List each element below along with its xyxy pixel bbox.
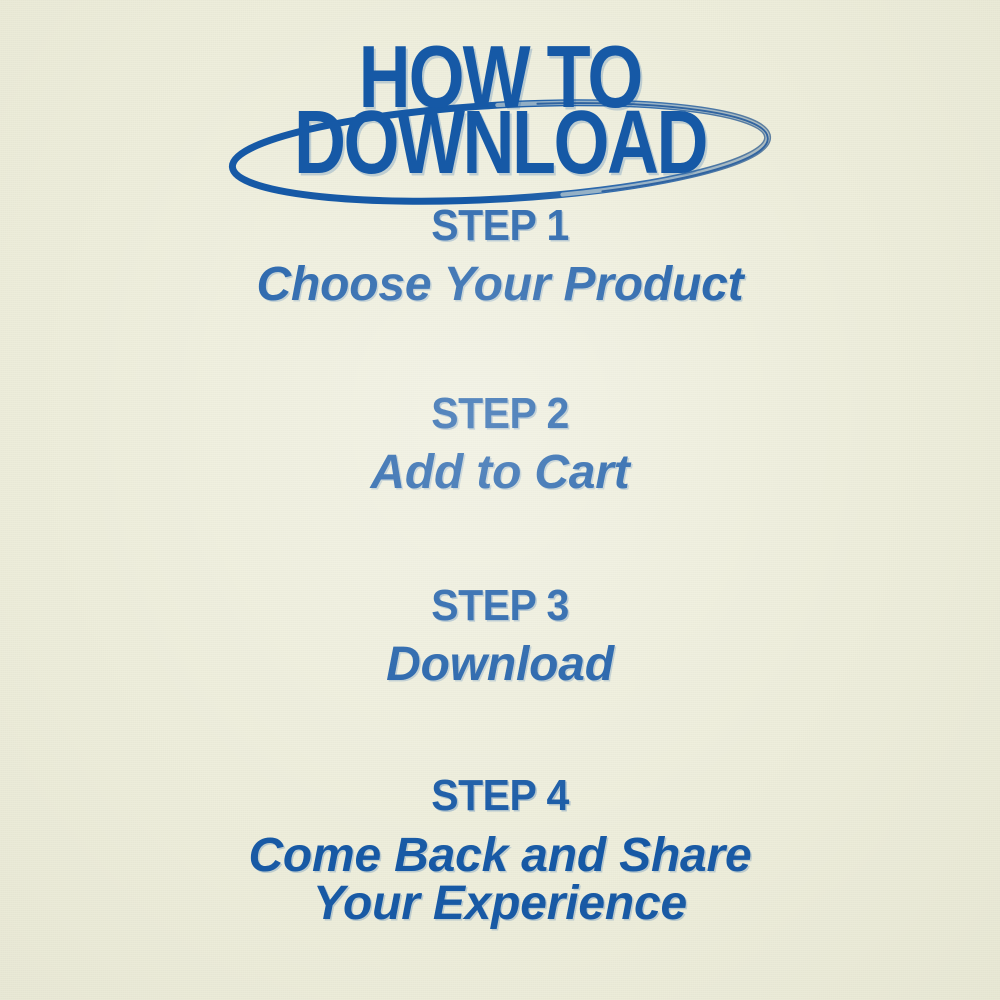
step-1-label: STEP 1 xyxy=(0,204,1000,247)
step-4-description: Come Back and Share Your Experience xyxy=(0,832,1000,928)
step-3-label: STEP 3 xyxy=(0,584,1000,627)
step-item-2: STEP 2 Add to Cart xyxy=(0,393,1000,499)
step-item-3: STEP 3 Download xyxy=(0,585,1000,691)
step-4-description-line-2: Your Experience xyxy=(0,880,1000,928)
step-item-4: STEP 4 Come Back and Share Your Experien… xyxy=(0,775,1000,928)
step-1-description: Choose Your Product xyxy=(0,260,1000,311)
step-4-label: STEP 4 xyxy=(0,774,1000,817)
step-item-1: STEP 1 Choose Your Product xyxy=(0,205,1000,311)
title-line-download: DOWNLOAD xyxy=(0,98,1000,188)
step-3-description: Download xyxy=(0,640,1000,691)
step-2-description: Add to Cart xyxy=(0,448,1000,499)
poster-canvas: HOW TO DOWNLOAD STEP 1 Choose Your Produ… xyxy=(0,0,1000,1000)
step-4-description-line-1: Come Back and Share xyxy=(0,832,1000,880)
poster-title: HOW TO DOWNLOAD xyxy=(0,34,1000,194)
step-2-label: STEP 2 xyxy=(0,392,1000,435)
